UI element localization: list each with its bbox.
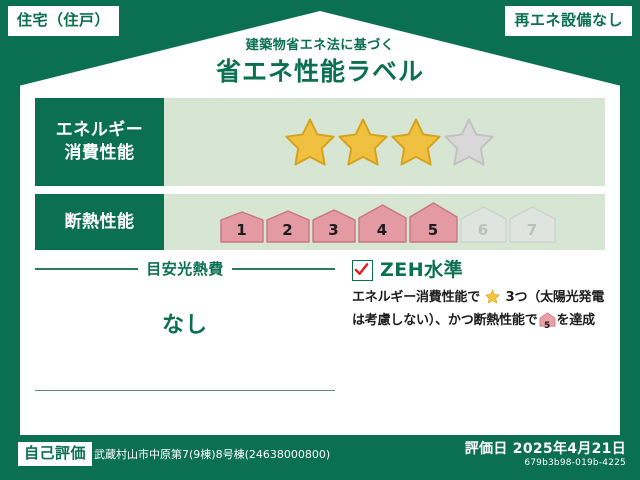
utility-cost-underline xyxy=(35,390,335,391)
zeh-header: ZEH水準 xyxy=(352,260,608,281)
star-icon-empty xyxy=(443,116,495,168)
evaluation-date-block: 評価日 2025年4月21日 679b3b98-019b-4225 xyxy=(465,440,626,470)
insulation-performance-label-box: 断熱性能 xyxy=(35,194,164,250)
rule-left xyxy=(35,268,138,270)
energy-performance-label: 住宅（住戸） 再エネ設備なし 建築物省エネ法に基づく 省エネ性能ラベル エネルギ… xyxy=(0,0,640,480)
house-icon xyxy=(266,210,310,243)
zeh-block: ZEH水準 エネルギー消費性能で 3つ（太陽光発電 は考慮しない）、かつ断熱性能… xyxy=(352,260,608,334)
insulation-performance-row: 断熱性能 1234567 xyxy=(35,194,605,250)
insulation-level-3: 3 xyxy=(312,209,356,243)
zeh-desc-part2: は考慮しない）、かつ断熱性能で xyxy=(352,313,538,328)
energy-performance-value xyxy=(164,98,605,186)
house-icon xyxy=(358,204,407,243)
star-icon-filled xyxy=(284,116,336,168)
zeh-desc-part3: を達成 xyxy=(557,313,595,328)
insulation-performance-value: 1234567 xyxy=(164,194,605,250)
energy-performance-row: エネルギー 消費性能 xyxy=(35,98,605,186)
badge-building-type: 住宅（住戸） xyxy=(8,6,119,36)
utility-cost-title: 目安光熱費 xyxy=(146,258,224,279)
house-icon xyxy=(509,206,556,243)
house-icon xyxy=(312,209,356,243)
house-icon-inline: 5 xyxy=(539,312,556,334)
house-icon xyxy=(460,206,507,243)
footer: 自己評価 武蔵村山市中原第7(9棟)8号棟(24638000800) 評価日 2… xyxy=(0,440,640,480)
house-icon xyxy=(409,202,458,243)
energy-label-line2: 消費性能 xyxy=(65,142,135,165)
utility-cost-value: なし xyxy=(35,307,335,339)
property-address: 武蔵村山市中原第7(9棟)8号棟(24638000800) xyxy=(94,448,330,461)
zeh-title: ZEH水準 xyxy=(380,261,463,280)
evaluation-id: 679b3b98-019b-4225 xyxy=(465,458,626,470)
zeh-desc-star-count: 3つ（太陽光発電 xyxy=(506,290,604,305)
insulation-level-6: 6 xyxy=(460,206,507,243)
checkbox-checked-icon xyxy=(352,260,373,281)
house-icon xyxy=(220,211,264,243)
insulation-level-2: 2 xyxy=(266,210,310,243)
star-icon-inline xyxy=(481,293,505,308)
energy-label-line1: エネルギー xyxy=(56,119,144,142)
label-card: エネルギー 消費性能 断熱性能 1234567 目安光熱費 xyxy=(22,88,618,434)
rule-right xyxy=(232,268,335,270)
insulation-scale: 1234567 xyxy=(214,202,556,243)
zeh-description: エネルギー消費性能で 3つ（太陽光発電 は考慮しない）、かつ断熱性能で 5 を達… xyxy=(352,288,608,334)
utility-cost-header: 目安光熱費 xyxy=(35,258,335,279)
insulation-level-1: 1 xyxy=(220,211,264,243)
energy-performance-label-box: エネルギー 消費性能 xyxy=(35,98,164,186)
insulation-level-5: 5 xyxy=(409,202,458,243)
insulation-level-4: 4 xyxy=(358,204,407,243)
evaluation-date: 評価日 2025年4月21日 xyxy=(465,440,626,458)
self-evaluation-badge: 自己評価 xyxy=(18,442,92,466)
lower-section: 目安光熱費 なし ZEH水準 エネルギー消費性能で xyxy=(22,258,618,434)
star-icon-filled xyxy=(337,116,389,168)
insulation-label: 断熱性能 xyxy=(65,211,135,234)
star-icon-filled xyxy=(390,116,442,168)
zeh-desc-part1: エネルギー消費性能で xyxy=(352,290,480,305)
badge-renewable-energy: 再エネ設備なし xyxy=(505,6,632,36)
star-rating xyxy=(284,116,495,168)
insulation-level-7: 7 xyxy=(509,206,556,243)
house-icon-inline-number: 5 xyxy=(539,320,556,334)
utility-cost-block: 目安光熱費 なし xyxy=(35,258,335,339)
